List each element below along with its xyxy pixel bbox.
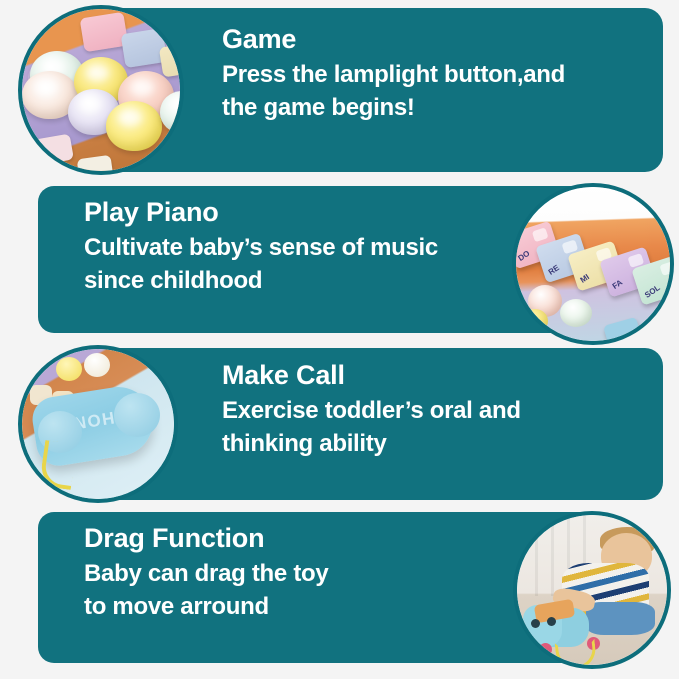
feature-image-game xyxy=(18,5,184,175)
piano-key-label: FA xyxy=(610,278,624,291)
feature-description-line: Baby can drag the toy xyxy=(84,557,504,590)
toy-dome-cream xyxy=(84,353,110,377)
feature-image-drag-function xyxy=(513,511,671,669)
wall-line xyxy=(551,515,554,596)
piano-key-label: SOL xyxy=(643,283,662,300)
feature-title-drag-function: Drag Function xyxy=(84,523,504,555)
phone-photo-inner: PHONE xyxy=(22,349,174,499)
piano-key-label: MI xyxy=(578,272,590,284)
feature-description-line: since childhood xyxy=(84,264,504,297)
feature-title-make-call: Make Call xyxy=(222,360,642,392)
toddler-photo-inner xyxy=(517,515,667,665)
feature-description-drag-function: Baby can drag the toy to move arround xyxy=(84,557,504,623)
feature-text-drag-function: Drag Function Baby can drag the toy to m… xyxy=(84,523,504,623)
feature-description-make-call: Exercise toddler’s oral and thinking abi… xyxy=(222,394,642,460)
feature-description-line: Press the lamplight button,and xyxy=(222,58,642,91)
piano-key-chip xyxy=(660,261,670,276)
toy-dome-mint xyxy=(560,299,592,327)
pull-toy-eye xyxy=(531,619,540,628)
feature-description-line: Exercise toddler’s oral and xyxy=(222,394,642,427)
feature-image-make-call: PHONE xyxy=(18,345,178,503)
feature-text-game: Game Press the lamplight button,and the … xyxy=(222,24,642,124)
piano-photo-inner: DO RE MI FA SOL xyxy=(516,187,670,341)
feature-text-play-piano: Play Piano Cultivate baby’s sense of mus… xyxy=(84,197,504,297)
feature-description-play-piano: Cultivate baby’s sense of music since ch… xyxy=(84,231,504,297)
feature-description-line: the game begins! xyxy=(222,91,642,124)
toy-key-cream xyxy=(159,43,180,78)
piano-key-label: DO xyxy=(516,249,531,263)
pull-toy-wheel xyxy=(539,643,552,656)
feature-infographic: Game Press the lamplight button,and the … xyxy=(0,0,679,679)
pull-toy-cord xyxy=(555,639,598,665)
handset-mouthpiece xyxy=(114,393,160,437)
feature-description-line: to move arround xyxy=(84,590,504,623)
feature-description-game: Press the lamplight button,and the game … xyxy=(222,58,642,124)
toddler-trousers xyxy=(586,602,655,635)
piano-key-chip xyxy=(532,227,549,242)
feature-description-line: thinking ability xyxy=(222,427,642,460)
game-photo-inner xyxy=(22,9,180,171)
toy-dome-yellow xyxy=(56,357,82,381)
feature-title-play-piano: Play Piano xyxy=(84,197,504,229)
feature-title-game: Game xyxy=(222,24,642,56)
toy-dome-yellow-2 xyxy=(106,101,162,151)
toy-dome-yellow xyxy=(522,309,548,333)
wall-line xyxy=(535,515,538,596)
piano-key-label: RE xyxy=(546,263,560,277)
pull-toy-eye xyxy=(547,617,556,626)
feature-image-play-piano: DO RE MI FA SOL xyxy=(512,183,674,345)
feature-description-line: Cultivate baby’s sense of music xyxy=(84,231,504,264)
feature-text-make-call: Make Call Exercise toddler’s oral and th… xyxy=(222,360,642,460)
toy-key-pink xyxy=(80,12,129,52)
